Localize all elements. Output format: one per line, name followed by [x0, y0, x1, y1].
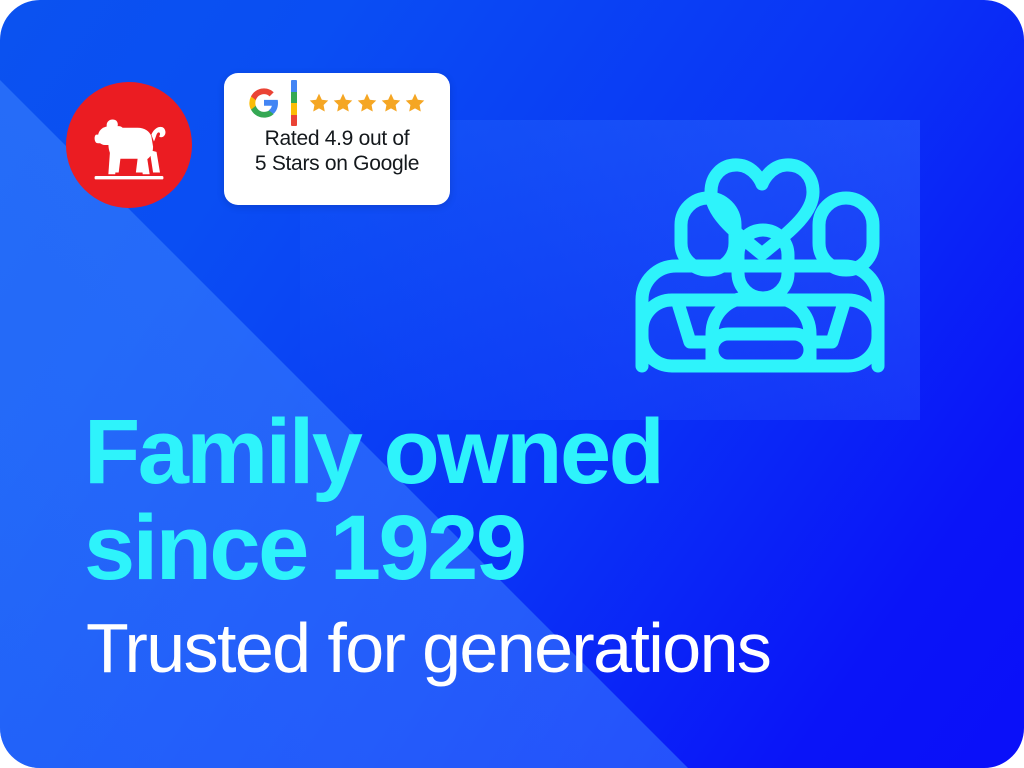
star-icon: [404, 92, 426, 114]
star-icon: [356, 92, 378, 114]
badge-text-line1: Rated 4.9 out of: [255, 126, 419, 151]
google-color-divider: [291, 80, 297, 126]
badge-rating-text: Rated 4.9 out of 5 Stars on Google: [255, 126, 419, 176]
star-icon: [380, 92, 402, 114]
promo-banner-stage: Rated 4.9 out of 5 Stars on Google: [0, 0, 1024, 768]
google-g-icon: [248, 87, 280, 119]
page-subtitle: Trusted for generations: [86, 608, 966, 688]
dog-silhouette-icon: [86, 102, 172, 188]
dog-logo[interactable]: [66, 82, 192, 208]
google-review-badge[interactable]: Rated 4.9 out of 5 Stars on Google: [224, 73, 450, 205]
family-with-heart-icon: [628, 88, 896, 373]
star-rating: [308, 92, 426, 114]
badge-text-line2: 5 Stars on Google: [255, 151, 419, 176]
badge-rating-row: [248, 86, 426, 120]
star-icon: [308, 92, 330, 114]
page-title: Family owned since 1929: [84, 404, 844, 596]
promo-card: Rated 4.9 out of 5 Stars on Google: [0, 0, 1024, 768]
star-icon: [332, 92, 354, 114]
